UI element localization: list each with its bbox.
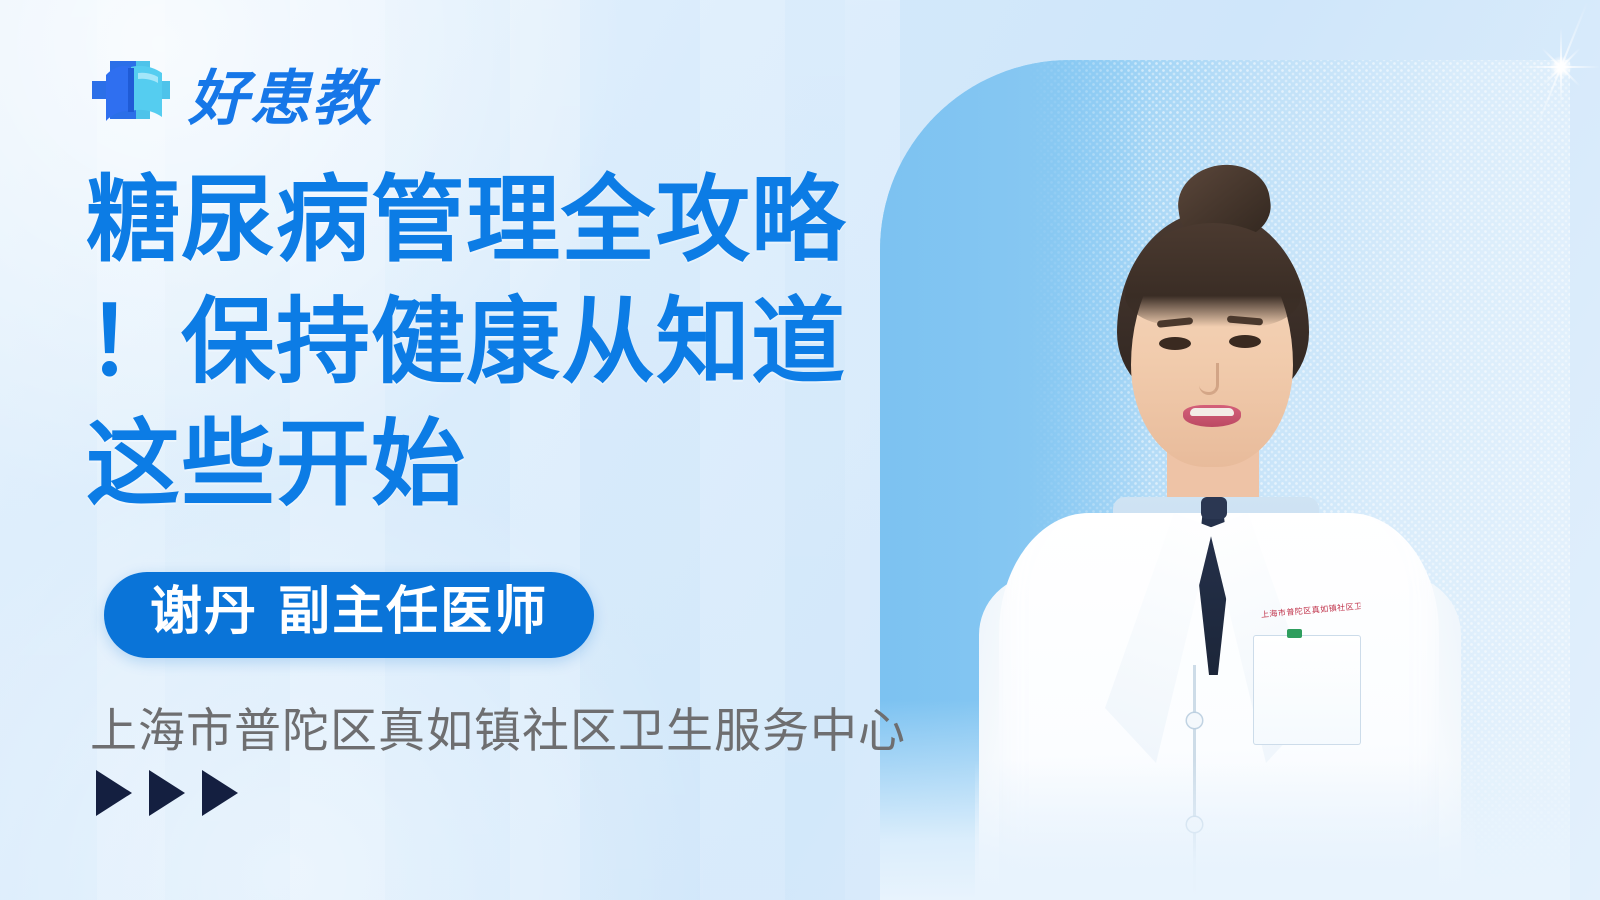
left-content: 好患教 糖尿病管理全攻略 ！保持健康从知道 这些开始 谢丹 副主任医师 上海市普… (0, 0, 900, 900)
triangle-right-icon (202, 770, 238, 816)
triangle-right-icon (149, 770, 185, 816)
mouth (1183, 405, 1241, 427)
headline-line-3: 这些开始 (86, 404, 886, 526)
poster-canvas: 上海市普陀区真如镇社区卫生服务中心 (0, 0, 1600, 900)
headline-line-2: ！保持健康从知道 (86, 282, 886, 404)
speaker-name-badge: 谢丹 副主任医师 (104, 572, 594, 658)
headline-line-1: 糖尿病管理全攻略 (86, 160, 886, 282)
coat-bottom-fade (975, 760, 1475, 900)
doctor-photo-panel: 上海市普陀区真如镇社区卫生服务中心 (880, 60, 1570, 900)
page-title: 糖尿病管理全攻略 ！保持健康从知道 这些开始 (86, 160, 886, 527)
medical-cross-book-icon (88, 55, 174, 143)
pocket-logo-badge (1287, 629, 1302, 638)
brand-lockup: 好患教 (88, 55, 374, 143)
arrow-decoration-group (96, 770, 238, 816)
doctor-portrait: 上海市普陀区真如镇社区卫生服务中心 (935, 105, 1495, 900)
necktie-knot (1201, 497, 1227, 519)
nose (1199, 363, 1219, 395)
coat-button-upper (1187, 713, 1202, 728)
coat-chest-pocket (1253, 635, 1361, 745)
triangle-right-icon (96, 770, 132, 816)
brand-name: 好患教 (188, 69, 374, 129)
eye-right (1229, 335, 1261, 348)
eye-left (1159, 337, 1191, 350)
organization-name: 上海市普陀区真如镇社区卫生服务中心 (90, 692, 906, 761)
